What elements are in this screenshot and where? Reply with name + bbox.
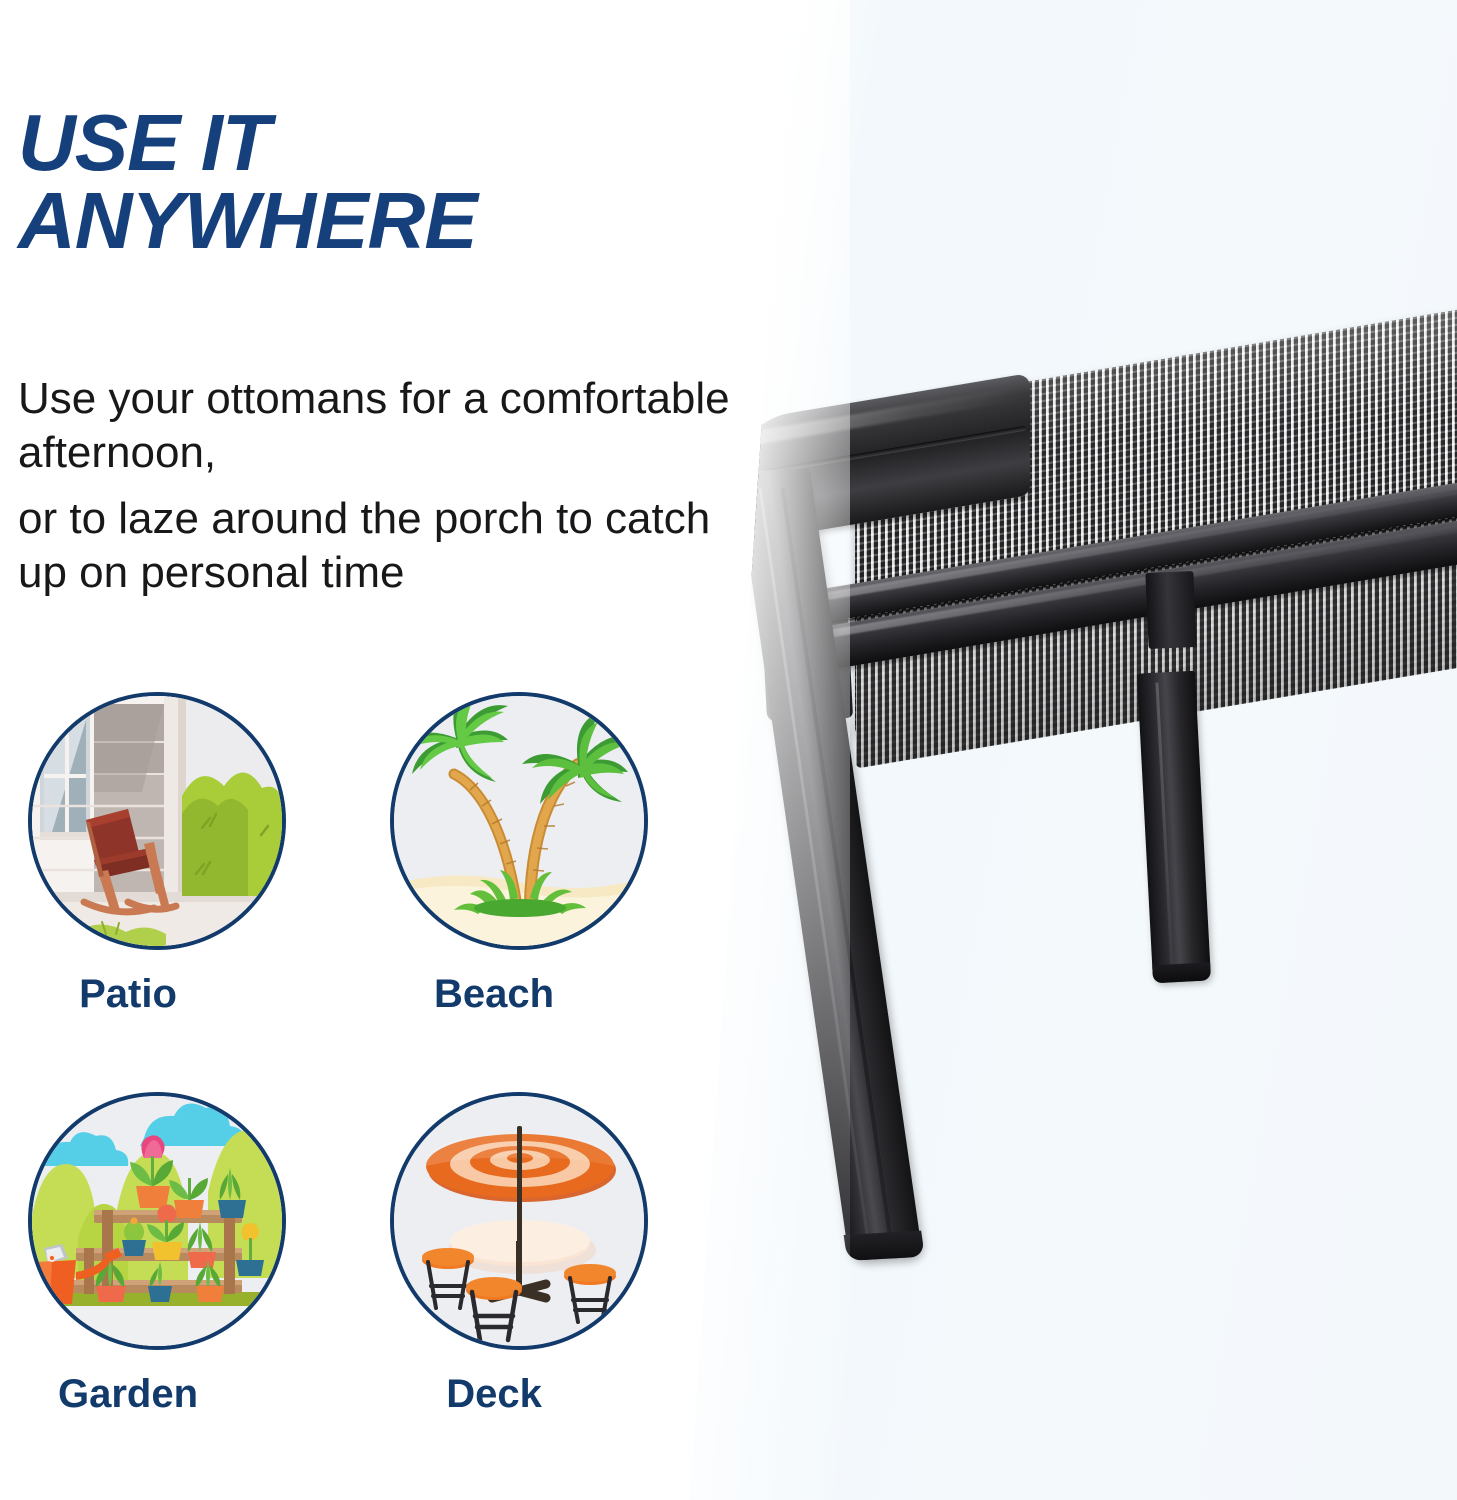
badge-patio-label: Patio: [28, 972, 286, 1017]
badge-garden[interactable]: Garden: [28, 1092, 286, 1417]
patio-umbrella-table-stools-illustration-icon: [394, 1096, 644, 1346]
body-copy: Use your ottomans for a comfortable afte…: [18, 372, 758, 600]
badge-deck-label: Deck: [390, 1372, 648, 1417]
body-paragraph-1: Use your ottomans for a comfortable afte…: [18, 372, 758, 480]
badge-deck-circle: [390, 1092, 648, 1350]
product-photo-panel: [660, 0, 1457, 1500]
palm-trees-illustration-icon: [394, 696, 644, 946]
badge-patio-circle: [28, 692, 286, 950]
left-leg-foot: [844, 1231, 925, 1261]
ottoman-middle-post: [1145, 571, 1196, 649]
badge-row-2: Garden: [28, 1092, 668, 1492]
headline-line-2: ANYWHERE: [18, 182, 718, 260]
badge-patio[interactable]: Patio: [28, 692, 286, 1017]
promo-image-root: USE IT ANYWHERE Use your ottomans for a …: [0, 0, 1457, 1500]
porch-rocking-chair-illustration-icon: [32, 696, 282, 946]
badge-beach-circle: [390, 692, 648, 950]
badge-garden-label: Garden: [28, 1372, 286, 1417]
plant-shelf-watering-can-illustration-icon: [32, 1096, 282, 1346]
ottoman-product-image: [660, 0, 1457, 1500]
headline-line-1: USE IT: [18, 98, 270, 187]
middle-leg-foot: [1152, 962, 1211, 983]
headline: USE IT ANYWHERE: [18, 104, 718, 261]
badge-beach[interactable]: Beach: [390, 692, 648, 1017]
badge-row-1: Patio: [28, 692, 668, 1092]
ottoman-middle-leg: [1137, 671, 1211, 984]
body-paragraph-2: or to laze around the porch to catch up …: [18, 492, 758, 600]
use-case-badge-grid: Patio: [28, 692, 668, 1492]
middle-leg-ridge: [1155, 683, 1173, 967]
badge-beach-label: Beach: [390, 972, 648, 1017]
badge-deck[interactable]: Deck: [390, 1092, 648, 1417]
badge-garden-circle: [28, 1092, 286, 1350]
